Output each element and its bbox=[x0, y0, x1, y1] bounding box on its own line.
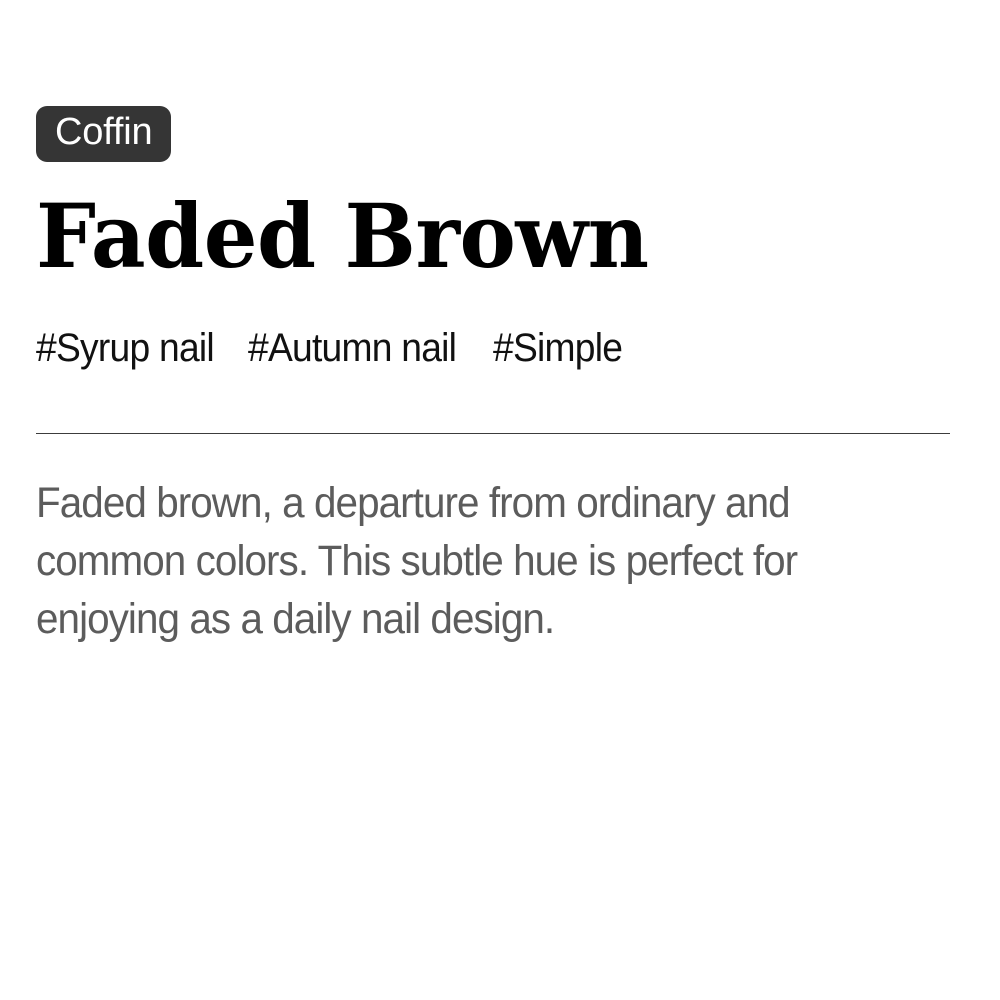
page-title: Faded Brown bbox=[36, 192, 649, 280]
description-line-3: enjoying as a daily nail design. bbox=[36, 590, 807, 648]
tag-simple[interactable]: #Simple bbox=[493, 326, 622, 370]
badge-row: Coffin bbox=[36, 106, 171, 162]
description-line-2: common colors. This subtle hue is perfec… bbox=[36, 532, 807, 590]
tag-autumn-nail[interactable]: #Autumn nail bbox=[248, 326, 456, 370]
description-text: Faded brown, a departure from ordinary a… bbox=[36, 474, 856, 648]
section-divider bbox=[36, 433, 950, 434]
tag-syrup-nail[interactable]: #Syrup nail bbox=[36, 326, 214, 370]
description-line-1: Faded brown, a departure from ordinary a… bbox=[36, 474, 807, 532]
nail-design-card: Coffin Faded Brown #Syrup nail #Autumn n… bbox=[0, 0, 1000, 1000]
shape-category-badge[interactable]: Coffin bbox=[36, 106, 171, 162]
tag-list: #Syrup nail #Autumn nail #Simple bbox=[36, 326, 632, 370]
